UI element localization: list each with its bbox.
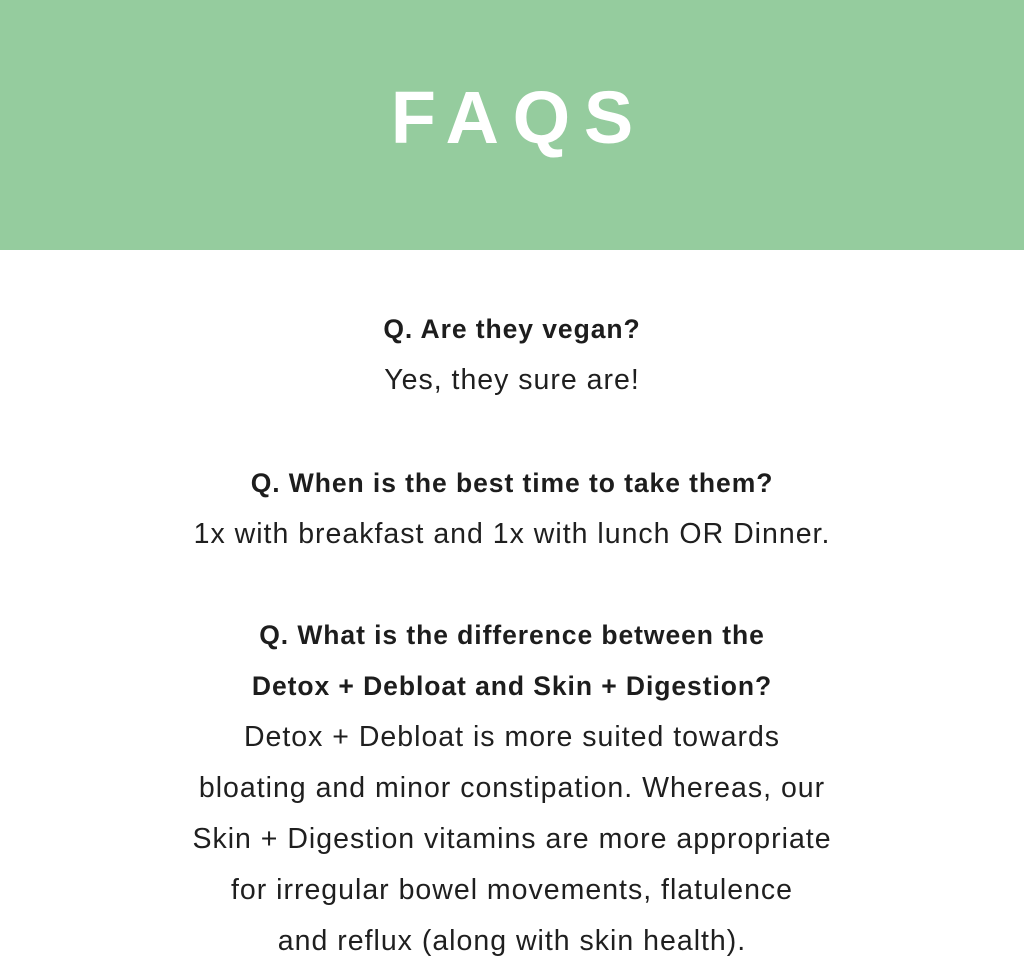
faq-answer-line: bloating and minor constipation. Whereas… — [48, 763, 976, 814]
faq-question: Q. Are they vegan? — [48, 304, 976, 355]
faq-item: Q. Are they vegan? Yes, they sure are! — [48, 304, 976, 406]
faq-answer-line: and reflux (along with skin health). — [48, 916, 976, 967]
faq-question: Q. When is the best time to take them? — [48, 458, 976, 509]
faq-question-line: Q. What is the difference between the — [48, 610, 976, 661]
faq-answer: Detox + Debloat is more suited towards b… — [48, 712, 976, 967]
faq-answer-line: Detox + Debloat is more suited towards — [48, 712, 976, 763]
faq-answer: 1x with breakfast and 1x with lunch OR D… — [48, 509, 976, 560]
page-banner: FAQS — [0, 0, 1024, 250]
faq-answer-line: 1x with breakfast and 1x with lunch OR D… — [48, 509, 976, 560]
faq-answer-line: Skin + Digestion vitamins are more appro… — [48, 814, 976, 865]
faq-page: FAQS Q. Are they vegan? Yes, they sure a… — [0, 0, 1024, 956]
faq-item: Q. When is the best time to take them? 1… — [48, 458, 976, 560]
faq-question: Q. What is the difference between the De… — [48, 610, 976, 712]
faq-item: Q. What is the difference between the De… — [48, 610, 976, 967]
faq-answer: Yes, they sure are! — [48, 355, 976, 406]
faq-answer-line: Yes, they sure are! — [48, 355, 976, 406]
faq-question-line: Detox + Debloat and Skin + Digestion? — [48, 661, 976, 712]
faq-list: Q. Are they vegan? Yes, they sure are! Q… — [0, 250, 1024, 956]
faq-answer-line: for irregular bowel movements, flatulenc… — [48, 865, 976, 916]
page-title: FAQS — [377, 81, 647, 155]
